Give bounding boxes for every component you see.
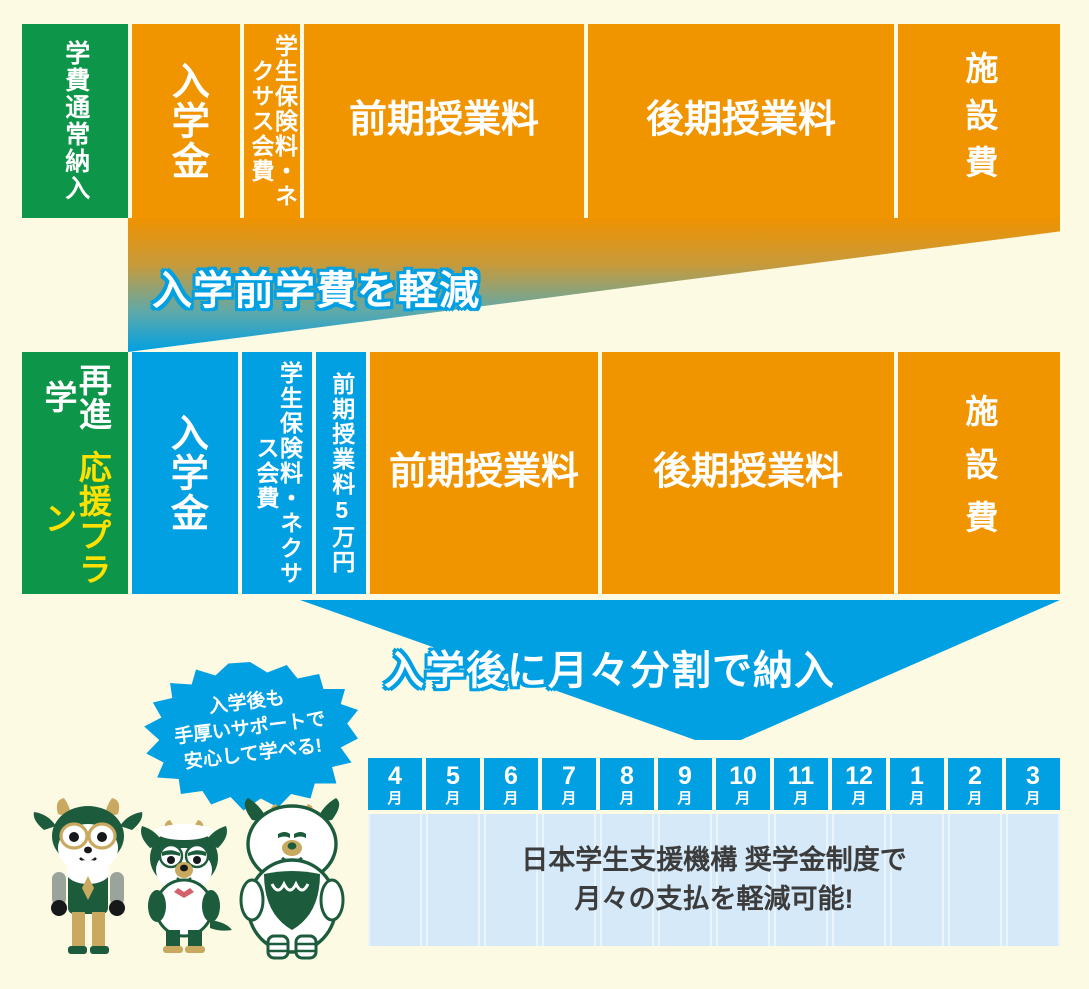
row-normal-badge: 学費通常納入 — [22, 24, 128, 218]
month-suffix: 月 — [561, 791, 576, 806]
month-suffix: 月 — [503, 791, 518, 806]
month-cell-6: 6月 — [484, 758, 538, 810]
row-normal-item-facility-fee: 施設費 — [898, 24, 1060, 218]
month-cell-3: 3月 — [1006, 758, 1060, 810]
month-cell-9: 9月 — [658, 758, 712, 810]
month-suffix: 月 — [619, 791, 634, 806]
month-suffix: 月 — [1025, 791, 1040, 806]
month-number: 9 — [678, 764, 692, 789]
scholarship-note-line-1: 日本学生支援機構 奨学金制度で — [521, 841, 907, 880]
row-plan-item-facility-fee: 施設費 — [898, 352, 1060, 594]
row-plan-item-first-term-tuition: 前期授業料 — [370, 352, 598, 594]
monthly-installment-label: 入学後に月々分割で納入 — [0, 638, 1089, 696]
month-number: 2 — [968, 764, 982, 789]
month-header-row: 4月5月6月7月8月9月10月11月12月1月2月3月 — [368, 758, 1060, 810]
month-suffix: 月 — [967, 791, 982, 806]
month-suffix: 月 — [793, 791, 808, 806]
row-normal-item-second-term-tuition: 後期授業料 — [588, 24, 894, 218]
row-plan-item-first-term-prepay: 前期授業料5万円 — [316, 352, 366, 594]
mascot-group — [14, 796, 364, 976]
row-normal-item-insurance-nexus: 学生保険料・ネクサス会費 — [244, 24, 300, 218]
scholarship-panel: 日本学生支援機構 奨学金制度で 月々の支払を軽減可能! — [368, 814, 1060, 946]
scholarship-note: 日本学生支援機構 奨学金制度で 月々の支払を軽減可能! — [521, 841, 907, 919]
infographic-root: 学費通常納入 入学金 学生保険料・ネクサス会費 前期授業料 後期授業料 施設費 … — [0, 0, 1089, 989]
month-cell-1: 1月 — [890, 758, 944, 810]
month-cell-10: 10月 — [716, 758, 770, 810]
row-normal-item-first-term-tuition: 前期授業料 — [304, 24, 584, 218]
month-number: 11 — [788, 764, 814, 789]
transition-label: 入学前学費を軽減 — [152, 258, 480, 316]
goat-mascot-large — [241, 798, 343, 958]
month-cell-4: 4月 — [368, 758, 422, 810]
goat-mascot-bowtie — [141, 820, 232, 953]
month-suffix: 月 — [387, 791, 402, 806]
row-plan-item-admission-fee: 入学金 — [132, 352, 238, 594]
row-plan-item-second-term-tuition: 後期授業料 — [602, 352, 894, 594]
month-number: 6 — [504, 764, 518, 789]
month-cell-5: 5月 — [426, 758, 480, 810]
month-suffix: 月 — [677, 791, 692, 806]
month-cell-11: 11月 — [774, 758, 828, 810]
month-number: 8 — [620, 764, 634, 789]
month-cell-12: 12月 — [832, 758, 886, 810]
row-plan-badge-line1: 再進学 — [41, 352, 110, 443]
row-plan-badge: 再進学 応援プラン — [22, 352, 128, 594]
row-plan: 再進学 応援プラン 入学金 学生保険料・ネクサス会費 前期授業料5万円 前期授業… — [22, 352, 1060, 594]
month-number: 5 — [446, 764, 460, 789]
month-number: 10 — [729, 764, 757, 789]
month-number: 4 — [388, 764, 402, 789]
month-suffix: 月 — [735, 791, 750, 806]
month-suffix: 月 — [445, 791, 460, 806]
row-normal-payment: 学費通常納入 入学金 学生保険料・ネクサス会費 前期授業料 後期授業料 施設費 — [22, 24, 1060, 218]
goat-mascot-glasses — [34, 798, 143, 954]
row-normal-item-admission-fee: 入学金 — [132, 24, 240, 218]
scholarship-note-line-2: 月々の支払を軽減可能! — [521, 880, 907, 919]
month-number: 12 — [845, 764, 873, 789]
month-suffix: 月 — [909, 791, 924, 806]
month-number: 3 — [1026, 764, 1040, 789]
month-cell-2: 2月 — [948, 758, 1002, 810]
month-number: 1 — [910, 764, 924, 789]
row-plan-item-insurance-nexus: 学生保険料・ネクサス会費 — [242, 352, 312, 594]
month-cell-8: 8月 — [600, 758, 654, 810]
month-cell-7: 7月 — [542, 758, 596, 810]
row-plan-badge-line2: 応援プラン — [41, 443, 110, 594]
month-suffix: 月 — [851, 791, 866, 806]
month-number: 7 — [562, 764, 576, 789]
mascot-illustration — [14, 796, 364, 976]
